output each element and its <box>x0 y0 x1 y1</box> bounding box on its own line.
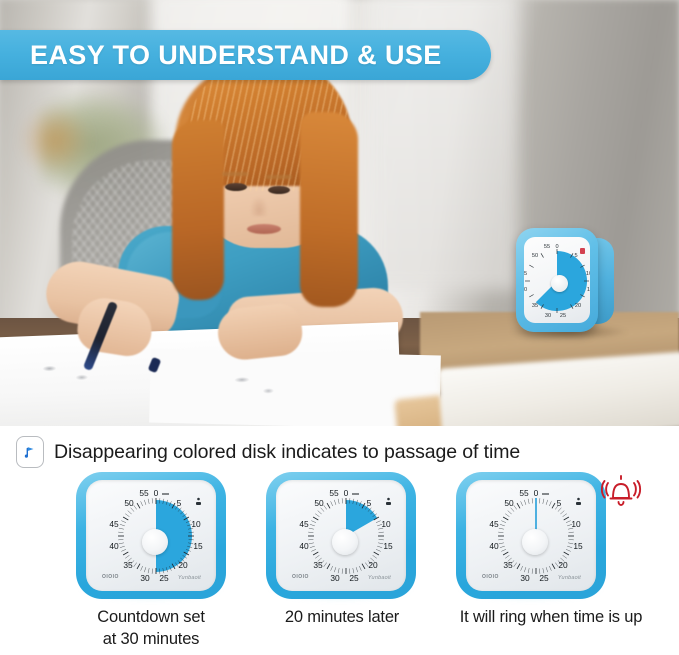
svg-text:55: 55 <box>544 244 550 250</box>
svg-text:25: 25 <box>539 573 549 583</box>
girl-nose <box>250 196 268 216</box>
timer-face: 05 1015 2025 3035 4045 5055 <box>86 480 216 591</box>
svg-text:20: 20 <box>558 560 568 570</box>
desk-timer-body: 05 1015 2025 3035 4045 5055 <box>516 228 598 332</box>
svg-text:50: 50 <box>124 498 134 508</box>
girl-eyebrow-right <box>266 175 292 179</box>
timer-card-30-minutes: 05 1015 2025 3035 4045 5055 <box>76 472 226 602</box>
timer-sequence: 05 1015 2025 3035 4045 5055 <box>0 472 679 607</box>
timer-brand-right: Yunbaoit <box>558 575 581 581</box>
svg-text:35: 35 <box>123 560 133 570</box>
feature-headline-row: Disappearing colored disk indicates to p… <box>16 432 666 472</box>
girl-eye-right <box>268 186 290 194</box>
svg-text:5: 5 <box>557 498 562 508</box>
svg-text:40: 40 <box>489 541 499 551</box>
svg-text:55: 55 <box>519 488 529 498</box>
timer-brand-right: Yunbaoit <box>368 575 391 581</box>
svg-text:50: 50 <box>532 253 538 259</box>
timer-mode-indicator <box>575 493 582 502</box>
timer-body: 05 1015 2025 3035 4045 5055 <box>266 472 416 599</box>
svg-text:45: 45 <box>299 519 309 529</box>
svg-text:30: 30 <box>140 573 150 583</box>
svg-text:5: 5 <box>367 498 372 508</box>
svg-text:35: 35 <box>532 303 538 309</box>
svg-text:5: 5 <box>177 498 182 508</box>
timer-brand-left: OIOIO <box>482 574 499 580</box>
timer-mode-indicator <box>195 493 202 502</box>
feature-section: Disappearing colored disk indicates to p… <box>0 426 679 655</box>
timer-knob[interactable] <box>332 529 358 555</box>
svg-text:10: 10 <box>381 519 391 529</box>
svg-text:25: 25 <box>349 573 359 583</box>
timer-card-time-up: 05 1015 2025 3035 4045 5055 <box>456 472 606 602</box>
timer-face: 05 1015 2025 3035 4045 5055 <box>466 480 596 591</box>
timer-icon <box>16 436 44 468</box>
timer-captions: Countdown set at 30 minutes 20 minutes l… <box>0 606 679 654</box>
svg-text:45: 45 <box>489 519 499 529</box>
svg-text:40: 40 <box>524 287 527 293</box>
svg-text:15: 15 <box>573 541 583 551</box>
caption-timer-10-minutes: 20 minutes later <box>256 606 428 628</box>
svg-text:40: 40 <box>109 541 119 551</box>
svg-text:10: 10 <box>191 519 201 529</box>
svg-text:50: 50 <box>314 498 324 508</box>
caption-line-2: at 30 minutes <box>61 628 241 650</box>
alarm-bell-icon <box>598 470 644 514</box>
svg-text:0: 0 <box>555 244 558 250</box>
girl-hair-right <box>300 112 358 307</box>
svg-text:30: 30 <box>520 573 530 583</box>
feature-headline-text: Disappearing colored disk indicates to p… <box>54 441 520 464</box>
desk-timer-knob <box>551 275 568 292</box>
svg-text:55: 55 <box>139 488 149 498</box>
svg-text:0: 0 <box>534 488 539 498</box>
desk-timer-indicator <box>580 248 585 254</box>
svg-text:20: 20 <box>368 560 378 570</box>
girl-eyebrow-left <box>222 172 248 176</box>
caption-line-1: Countdown set <box>61 606 241 628</box>
svg-text:35: 35 <box>503 560 513 570</box>
caption-timer-time-up: It will ring when time is up <box>426 606 676 628</box>
desk-timer-face: 05 1015 2025 3035 4045 5055 <box>524 237 590 323</box>
svg-text:15: 15 <box>587 287 590 293</box>
girl-mouth <box>247 224 281 234</box>
svg-text:30: 30 <box>330 573 340 583</box>
svg-text:15: 15 <box>193 541 203 551</box>
svg-text:20: 20 <box>178 560 188 570</box>
svg-text:45: 45 <box>524 271 527 277</box>
svg-text:35: 35 <box>313 560 323 570</box>
svg-text:10: 10 <box>586 271 590 277</box>
svg-text:0: 0 <box>344 488 349 498</box>
timer-knob[interactable] <box>522 529 548 555</box>
desk-visual-timer: 05 1015 2025 3035 4045 5055 <box>516 228 612 336</box>
girl-eye-left <box>225 183 247 191</box>
headline-banner-text: EASY TO UNDERSTAND & USE <box>0 40 442 71</box>
svg-text:0: 0 <box>154 488 159 498</box>
timer-brand-right: Yunbaoit <box>178 575 201 581</box>
svg-text:55: 55 <box>329 488 339 498</box>
svg-text:40: 40 <box>299 541 309 551</box>
timer-face: 05 1015 2025 3035 4045 5055 <box>276 480 406 591</box>
background-plant-accent <box>20 105 90 175</box>
timer-card-10-minutes: 05 1015 2025 3035 4045 5055 <box>266 472 416 602</box>
timer-knob[interactable] <box>142 529 168 555</box>
svg-text:15: 15 <box>383 541 393 551</box>
timer-brand-left: OIOIO <box>292 574 309 580</box>
timer-mode-indicator <box>385 493 392 502</box>
timer-body: 05 1015 2025 3035 4045 5055 <box>76 472 226 599</box>
timer-body: 05 1015 2025 3035 4045 5055 <box>456 472 606 599</box>
svg-text:20: 20 <box>575 303 581 309</box>
svg-text:10: 10 <box>571 519 581 529</box>
svg-text:50: 50 <box>504 498 514 508</box>
caption-timer-30-minutes: Countdown set at 30 minutes <box>61 606 241 651</box>
svg-text:45: 45 <box>109 519 119 529</box>
svg-text:25: 25 <box>560 313 566 319</box>
svg-text:30: 30 <box>545 313 551 319</box>
headline-banner: EASY TO UNDERSTAND & USE <box>0 30 491 80</box>
svg-text:5: 5 <box>574 253 577 259</box>
svg-text:25: 25 <box>159 573 169 583</box>
timer-brand-left: OIOIO <box>102 574 119 580</box>
girl-hair-left <box>172 120 224 300</box>
pencil-marks <box>9 346 351 418</box>
